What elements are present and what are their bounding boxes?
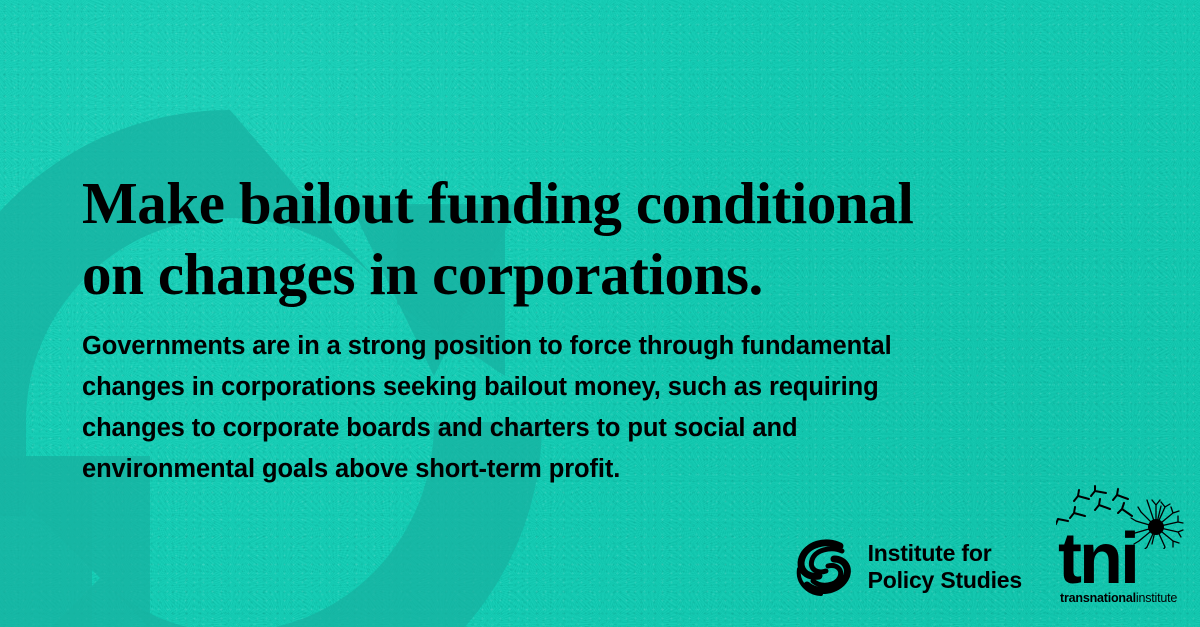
tni-tagline-light: institute bbox=[1136, 591, 1177, 605]
tni-wordmark: tni bbox=[1058, 523, 1137, 595]
ips-wordmark: Institute for Policy Studies bbox=[868, 540, 1022, 594]
social-card: Make bailout funding conditional on chan… bbox=[0, 0, 1200, 627]
logo-row: Institute for Policy Studies bbox=[793, 483, 1184, 605]
tni-tagline-bold: transnational bbox=[1060, 591, 1136, 605]
tni-logo[interactable]: tni transnationalinstitute bbox=[1056, 483, 1184, 605]
ips-logo[interactable]: Institute for Policy Studies bbox=[793, 537, 1022, 605]
page-title: Make bailout funding conditional on chan… bbox=[82, 168, 1082, 310]
text-block: Make bailout funding conditional on chan… bbox=[82, 168, 1082, 491]
ips-spiral-icon bbox=[793, 537, 855, 597]
body-paragraph: Governments are in a strong position to … bbox=[82, 326, 982, 491]
tni-tagline: transnationalinstitute bbox=[1060, 591, 1177, 605]
